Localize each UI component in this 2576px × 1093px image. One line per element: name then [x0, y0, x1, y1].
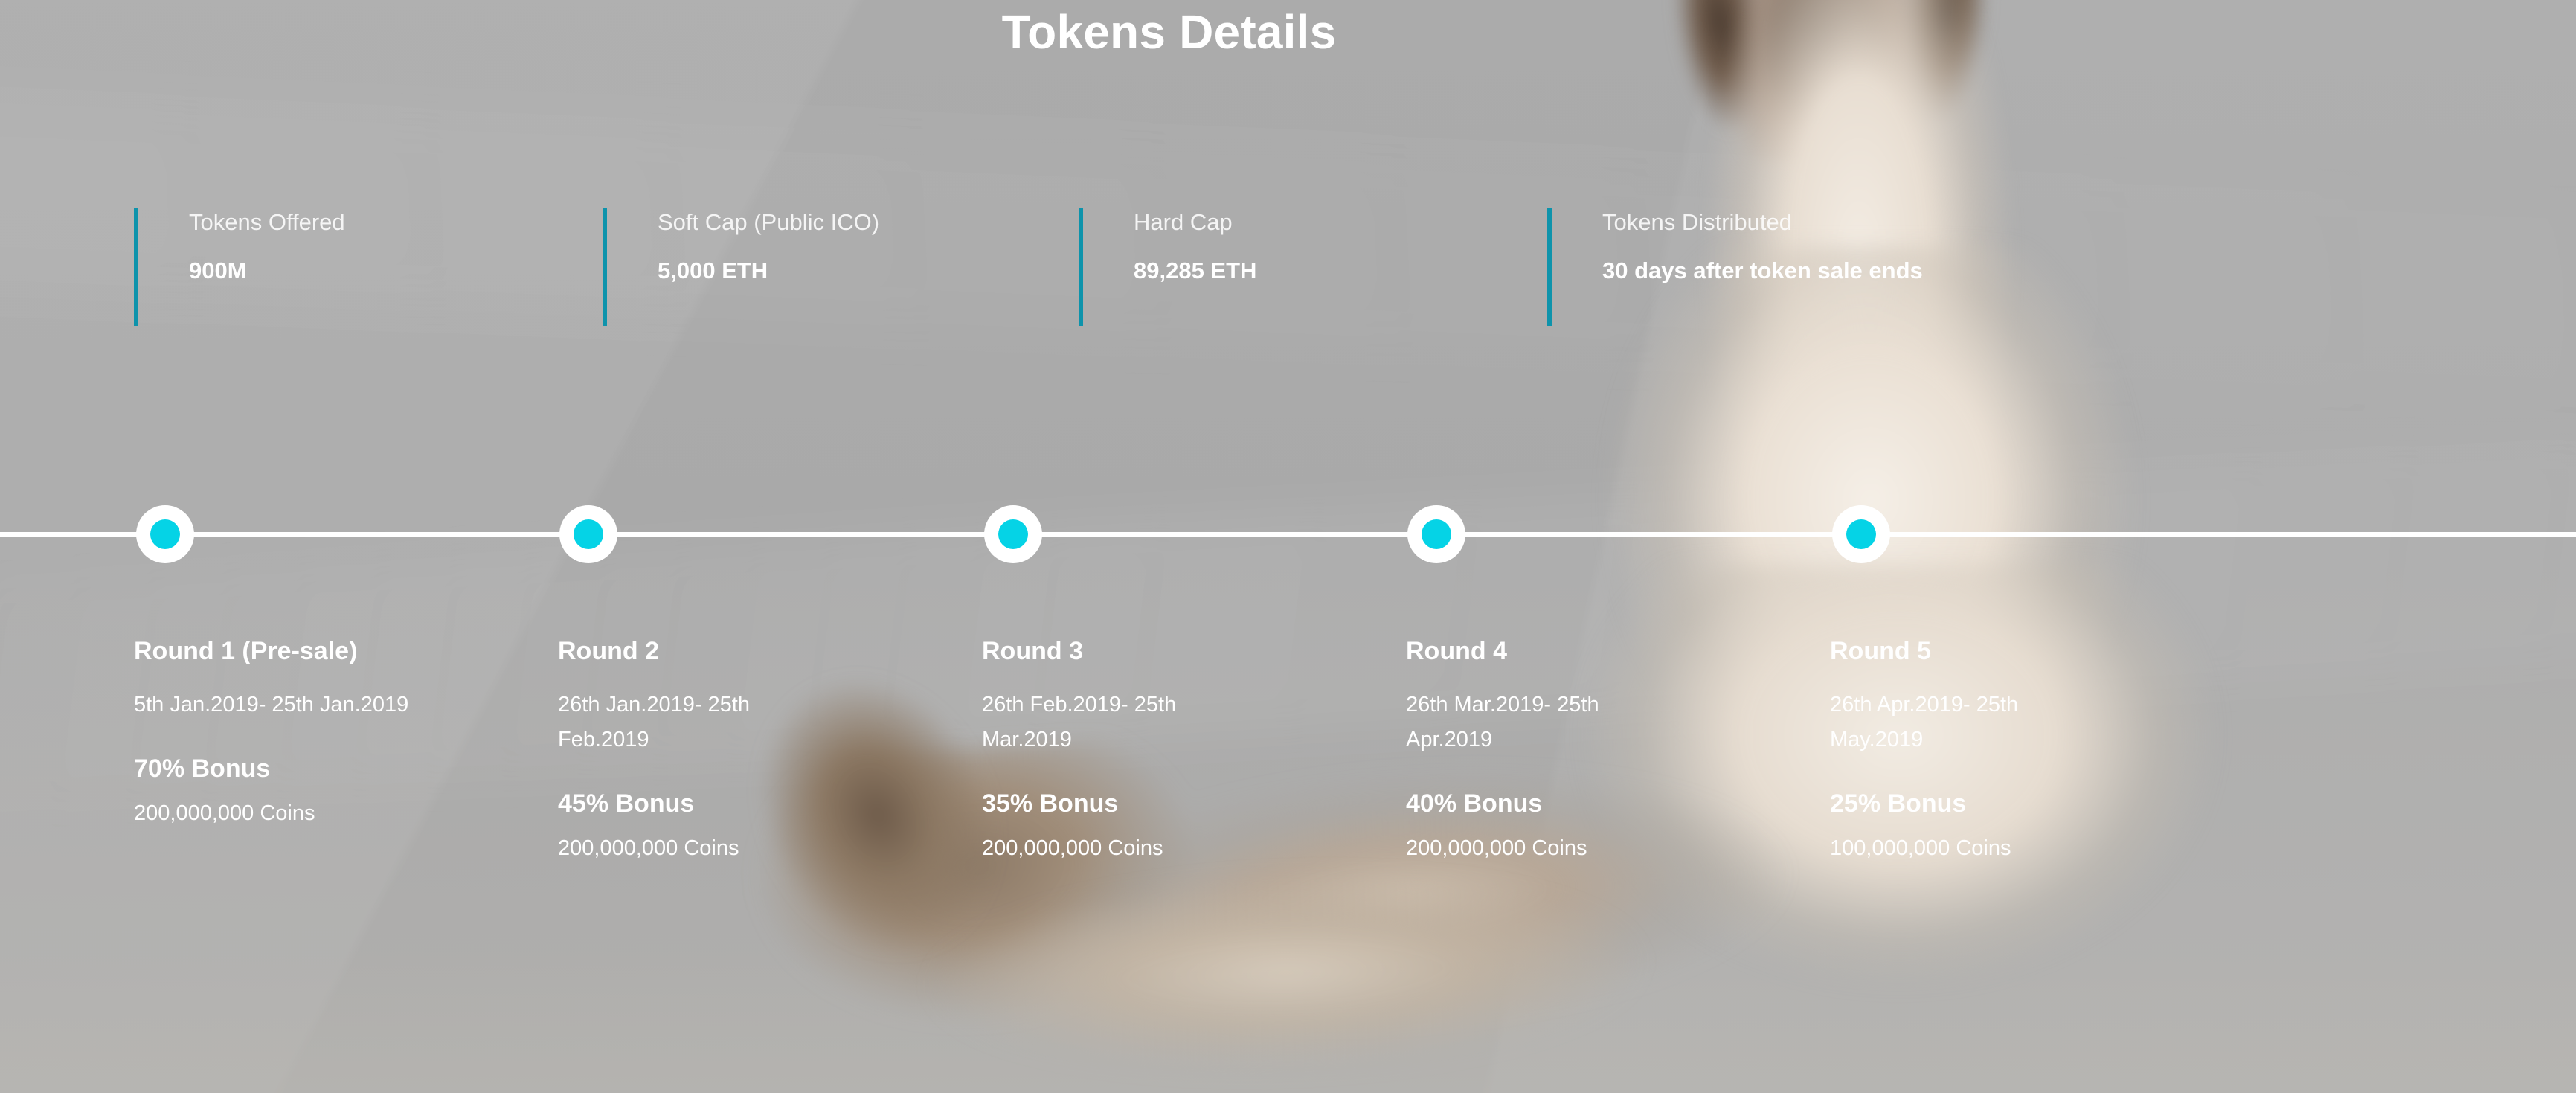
- round-block-4: Round 426th Mar.2019- 25th Apr.201940% B…: [1406, 636, 1793, 861]
- tokens-details-section: Tokens Details Tokens Offered900MSoft Ca…: [0, 0, 2576, 1093]
- page-title: Tokens Details: [0, 4, 2338, 60]
- round-dates: 26th Feb.2019- 25th Mar.2019: [982, 687, 1257, 757]
- timeline-dot-round-1[interactable]: [136, 505, 194, 563]
- stat-card-2: Soft Cap (Public ICO)5,000 ETH: [603, 208, 1079, 326]
- stat-card-label: Soft Cap (Public ICO): [658, 208, 1079, 236]
- round-dates: 5th Jan.2019- 25th Jan.2019: [134, 687, 409, 722]
- round-coins: 200,000,000 Coins: [558, 836, 945, 862]
- round-title: Round 5: [1830, 636, 2217, 667]
- stat-card-1: Tokens Offered900M: [134, 208, 603, 326]
- round-coins: 200,000,000 Coins: [134, 801, 521, 827]
- round-coins: 200,000,000 Coins: [1406, 836, 1793, 862]
- round-title: Round 3: [982, 636, 1369, 667]
- stat-card-label: Hard Cap: [1134, 208, 1547, 236]
- round-block-2: Round 226th Jan.2019- 25th Feb.201945% B…: [558, 636, 945, 861]
- timeline-dot-round-5[interactable]: [1832, 505, 1890, 563]
- stat-card-4: Tokens Distributed30 days after token sa…: [1547, 208, 2142, 326]
- round-block-1: Round 1 (Pre-sale)5th Jan.2019- 25th Jan…: [134, 636, 521, 826]
- round-bonus: 40% Bonus: [1406, 789, 1793, 819]
- stat-card-value: 30 days after token sale ends: [1602, 257, 2142, 284]
- token-stats-strip: Tokens Offered900MSoft Cap (Public ICO)5…: [0, 208, 2576, 335]
- round-bonus: 45% Bonus: [558, 789, 945, 819]
- timeline-track: [0, 532, 2576, 537]
- round-bonus: 70% Bonus: [134, 754, 521, 784]
- stat-card-value: 900M: [189, 257, 603, 284]
- round-title: Round 1 (Pre-sale): [134, 636, 521, 667]
- round-title: Round 4: [1406, 636, 1793, 667]
- stat-card-value: 5,000 ETH: [658, 257, 1079, 284]
- timeline-dot-round-2[interactable]: [559, 505, 617, 563]
- stat-card-label: Tokens Distributed: [1602, 208, 2142, 236]
- stat-card-3: Hard Cap89,285 ETH: [1079, 208, 1547, 326]
- stat-card-value: 89,285 ETH: [1134, 257, 1547, 284]
- round-coins: 100,000,000 Coins: [1830, 836, 2217, 862]
- round-bonus: 25% Bonus: [1830, 789, 2217, 819]
- round-block-5: Round 526th Apr.2019- 25th May.201925% B…: [1830, 636, 2217, 861]
- timeline-dot-round-3[interactable]: [984, 505, 1042, 563]
- round-coins: 200,000,000 Coins: [982, 836, 1369, 862]
- timeline-dot-round-4[interactable]: [1407, 505, 1465, 563]
- round-dates: 26th Jan.2019- 25th Feb.2019: [558, 687, 833, 757]
- round-bonus: 35% Bonus: [982, 789, 1369, 819]
- round-dates: 26th Apr.2019- 25th May.2019: [1830, 687, 2105, 757]
- stat-card-label: Tokens Offered: [189, 208, 603, 236]
- round-block-3: Round 326th Feb.2019- 25th Mar.201935% B…: [982, 636, 1369, 861]
- round-dates: 26th Mar.2019- 25th Apr.2019: [1406, 687, 1681, 757]
- round-title: Round 2: [558, 636, 945, 667]
